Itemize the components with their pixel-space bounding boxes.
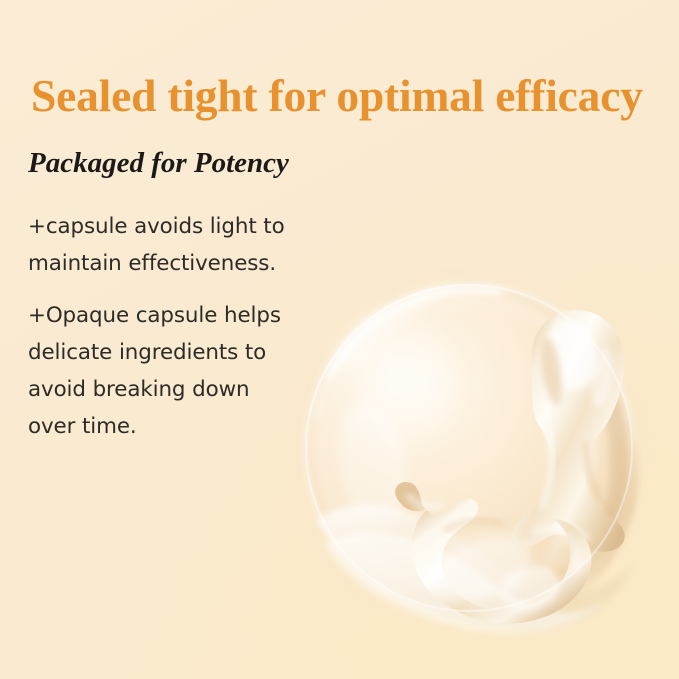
body-line: +capsule avoids light to xyxy=(28,208,358,245)
body-line: delicate ingredients to xyxy=(28,334,358,371)
body-line: avoid breaking down xyxy=(28,371,358,408)
body-paragraph-light-protection: +capsule avoids light to maintain effect… xyxy=(28,208,358,282)
body-line: maintain effectiveness. xyxy=(28,245,358,282)
body-line: over time. xyxy=(28,408,358,445)
headline: Sealed tight for optimal efficacy xyxy=(31,72,671,119)
promotional-graphic: Sealed tight for optimal efficacy Packag… xyxy=(0,0,679,679)
body-paragraph-opaque-capsule: +Opaque capsule helps delicate ingredien… xyxy=(28,297,358,445)
body-line: +Opaque capsule helps xyxy=(28,297,358,334)
subheading: Packaged for Potency xyxy=(28,148,289,180)
